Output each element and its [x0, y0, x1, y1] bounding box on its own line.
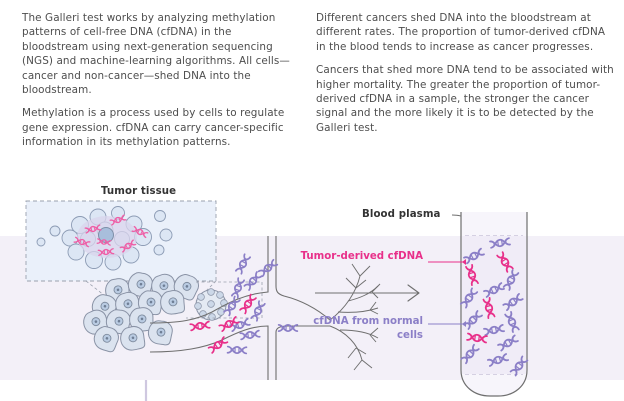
- label-tumor-derived-cfdna: Tumor-derived cfDNA: [300, 250, 423, 264]
- tumor-cell-cluster: [80, 271, 262, 354]
- article-right-column: Different cancers shed DNA into the bloo…: [310, 0, 624, 180]
- paragraph: Cancers that shed more DNA tend to be as…: [316, 63, 614, 135]
- label-cfdna-from-normal-cells: cfDNA from normal cells: [300, 315, 423, 342]
- article-text-section: The Galleri test works by analyzing meth…: [0, 0, 624, 180]
- biology-diagram: Tumor tissue Blood plasma Tumor-derived …: [0, 180, 624, 401]
- diagram-graphics-layer: [0, 180, 624, 401]
- paragraph: Different cancers shed DNA into the bloo…: [316, 11, 614, 54]
- round-cell-cluster: [195, 289, 228, 321]
- blood-collection-tube: [461, 212, 528, 396]
- label-blood-plasma: Blood plasma: [362, 208, 441, 222]
- flow-arrow: [315, 285, 419, 301]
- article-left-column: The Galleri test works by analyzing meth…: [0, 0, 310, 180]
- paragraph: Methylation is a process used by cells t…: [22, 106, 298, 149]
- label-tumor-tissue: Tumor tissue: [101, 185, 176, 199]
- paragraph: The Galleri test works by analyzing meth…: [22, 11, 298, 97]
